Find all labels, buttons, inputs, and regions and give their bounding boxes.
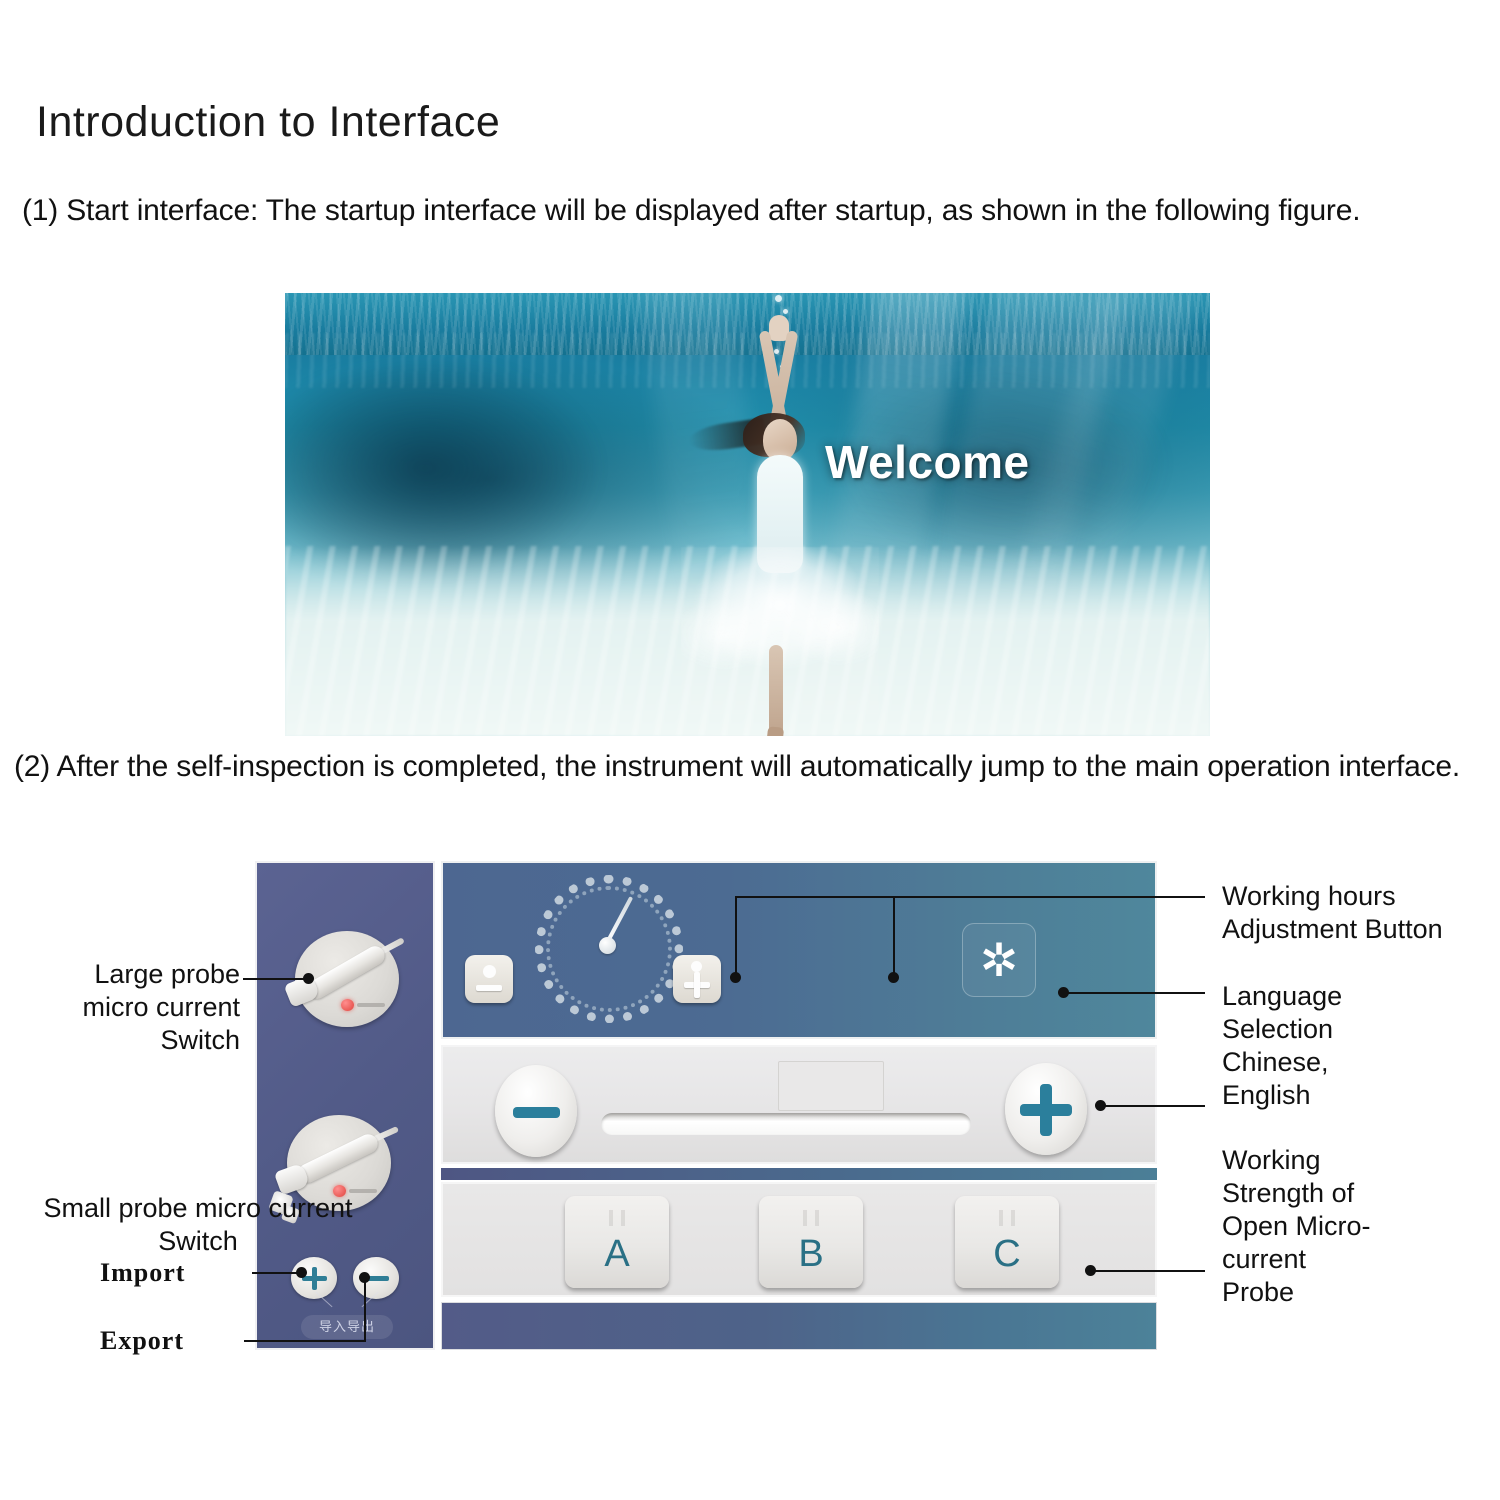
leader-dot-import [296, 1267, 307, 1278]
underwater-dancer-figure [683, 315, 873, 735]
leg [769, 645, 783, 736]
foot [766, 726, 784, 736]
callout-line: Chinese, [1222, 1046, 1492, 1079]
startup-splash-image: Welcome [285, 293, 1210, 736]
mode-button-label: C [993, 1233, 1020, 1276]
callout-line: current [1222, 1243, 1492, 1276]
callout-line: micro current [60, 991, 240, 1024]
mode-button-label: B [798, 1233, 823, 1276]
callout-line: Switch [28, 1225, 368, 1258]
minus-button-cap [483, 965, 496, 978]
mode-button-marker [999, 1210, 1015, 1226]
callout-line: English [1222, 1079, 1492, 1112]
plus-icon-bar [302, 1276, 327, 1281]
leader-line-import [252, 1272, 300, 1274]
callout-small-probe: Small probe micro current Switch [28, 1192, 368, 1258]
working-hours-dial [535, 875, 683, 1023]
plus-icon [1040, 1084, 1052, 1136]
leader-line-working-hours [735, 896, 1205, 898]
callout-line: Probe [1222, 1276, 1492, 1309]
callout-line: Switch [60, 1024, 240, 1057]
callout-export: Export [100, 1326, 184, 1356]
callout-line: Adjustment Button [1222, 913, 1492, 946]
leader-line-export [244, 1340, 366, 1342]
mode-button-c[interactable]: C [955, 1196, 1059, 1288]
working-hours-decrease-button[interactable] [465, 955, 513, 1003]
mode-button-marker [609, 1210, 625, 1226]
callout-working-strength: Working Strength of Open Micro- current … [1222, 1144, 1492, 1309]
device-strength-panel [441, 1045, 1157, 1164]
leader-dot-strength-plus [1095, 1100, 1106, 1111]
device-mode-panel: A B C [441, 1182, 1157, 1297]
leader-line-export-vertical [364, 1278, 366, 1342]
import-export-chinese-label: 导入导出 [301, 1315, 393, 1339]
mode-button-a[interactable]: A [565, 1196, 669, 1288]
probe-led-indicator [341, 999, 354, 1011]
leader-line-hours-minus [735, 896, 737, 976]
minus-icon [476, 985, 502, 991]
page-title: Introduction to Interface [36, 98, 500, 147]
strength-decrease-button[interactable] [495, 1065, 577, 1157]
strength-increase-button[interactable] [1005, 1063, 1087, 1155]
leader-line-language [1063, 992, 1205, 994]
callout-line: Open Micro- [1222, 1210, 1492, 1243]
leader-dot-large-probe [303, 973, 314, 984]
callout-line: Small probe micro current [28, 1192, 368, 1225]
leader-dot-hours-plus [888, 972, 899, 983]
callout-line: Strength of [1222, 1177, 1492, 1210]
callout-working-hours: Working hours Adjustment Button [1222, 880, 1492, 946]
device-divider-rail [441, 1168, 1157, 1180]
main-operation-interface-diagram: 导入导出 ✲ [255, 861, 1157, 1350]
device-bottom-bar [441, 1302, 1157, 1350]
gear-icon: ✲ [980, 937, 1019, 983]
paragraph-2: (2) After the self-inspection is complet… [14, 748, 1500, 786]
leader-dot-export [359, 1272, 370, 1283]
strength-value-display [778, 1061, 884, 1111]
language-selection-button[interactable]: ✲ [962, 923, 1036, 997]
dial-hub [599, 937, 616, 954]
device-right-side: ✲ A B [441, 861, 1157, 1350]
probe-slot [357, 1003, 385, 1007]
mode-button-label: A [604, 1233, 629, 1276]
callout-line: Working hours [1222, 880, 1492, 913]
leader-dot-language [1058, 987, 1069, 998]
callout-line: Language [1222, 980, 1492, 1013]
mode-button-b[interactable]: B [759, 1196, 863, 1288]
plus-icon [694, 972, 700, 998]
callout-large-probe: Large probe micro current Switch [60, 958, 240, 1057]
callout-line: Large probe [60, 958, 240, 991]
callout-import: Import [100, 1258, 185, 1288]
device-top-panel: ✲ [441, 861, 1157, 1039]
leader-line-strength [1100, 1105, 1205, 1107]
probe-wand [295, 1131, 381, 1186]
import-button[interactable] [291, 1257, 337, 1299]
leader-dot-probe-strength [1085, 1265, 1096, 1276]
minus-icon [513, 1107, 560, 1118]
working-hours-increase-button[interactable] [673, 955, 721, 1003]
leader-line-hours-plus [893, 896, 895, 976]
paragraph-1: (1) Start interface: The startup interfa… [22, 192, 1500, 230]
leader-line-large-probe [243, 978, 307, 980]
welcome-text: Welcome [825, 435, 1030, 489]
callout-language-selection: Language Selection Chinese, English [1222, 980, 1492, 1112]
strength-slider[interactable] [601, 1113, 971, 1135]
mode-button-marker [803, 1210, 819, 1226]
callout-line: Selection [1222, 1013, 1492, 1046]
plus-button-cap [691, 961, 702, 972]
leader-dot-hours-minus [730, 972, 741, 983]
callout-line: Working [1222, 1144, 1492, 1177]
device-left-panel: 导入导出 [255, 861, 435, 1350]
leader-line-probe-strength [1090, 1270, 1205, 1272]
